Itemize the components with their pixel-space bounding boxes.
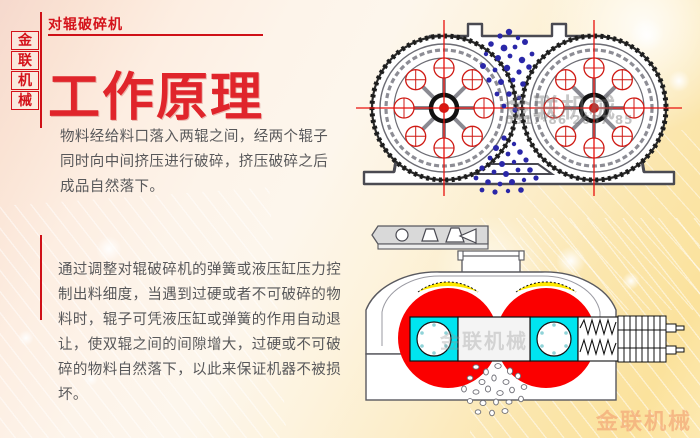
vertical-accent-line-bottom: [40, 235, 42, 320]
logo-char-2: 联: [11, 51, 39, 70]
logo-char-1: 金: [11, 31, 39, 50]
center-housing: [458, 317, 530, 361]
hydraulic-cylinder-housing: [618, 316, 684, 362]
brand-logo: 金 联 机 械: [11, 31, 41, 110]
figure-cross-section: [352, 14, 690, 204]
kicker-subtitle: 对辊破碎机: [48, 14, 123, 34]
feed-tray: [372, 226, 488, 249]
logo-char-3: 机: [11, 71, 39, 90]
figure-machine-front-view: [352, 212, 696, 424]
title-underline: [48, 34, 263, 36]
spring-assembly: [578, 317, 618, 361]
paragraph-adjustment: 通过调整对辊破碎机的弹簧或液压缸压力控制出料细度，当遇到过硬或者不可破碎的物料时…: [58, 258, 354, 408]
poster-canvas: 金 联 机 械 对辊破碎机 工作原理 物料经给料口落入两辊之间，经两个辊子同时向…: [0, 0, 700, 438]
paragraph-principle: 物料经给料口落入两辊之间，经两个辊子同时向中间挤压进行破碎，挤压破碎之后成品自然…: [60, 125, 342, 200]
sparkle-glow: [18, 330, 34, 346]
page-title: 工作原理: [48, 69, 264, 129]
logo-char-4: 械: [11, 91, 39, 110]
